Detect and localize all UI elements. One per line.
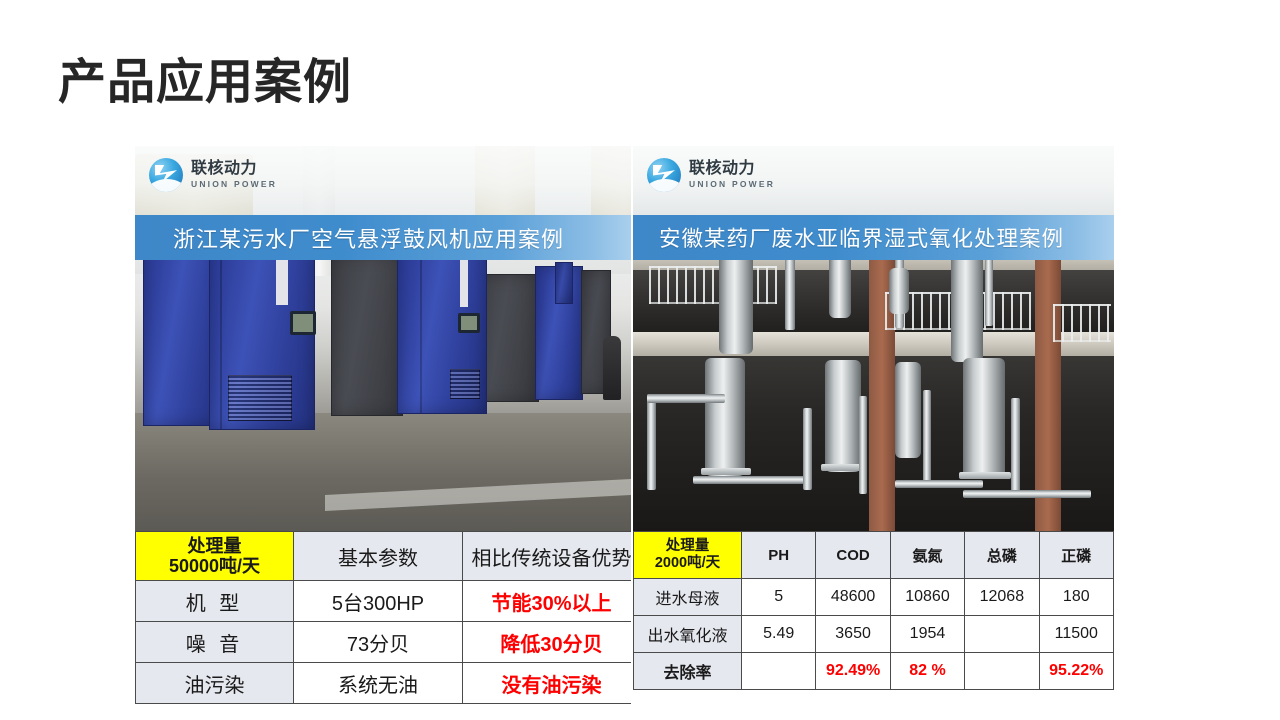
- row-advantage: 节能30%以上: [463, 581, 632, 622]
- table-row-header: 处理量 50000吨/天 基本参数 相比传统设备优势: [136, 532, 632, 581]
- cell-ph: 5: [742, 579, 816, 616]
- cell-ammonia-nitrogen: 10860: [890, 579, 964, 616]
- case-card-right: 联核动力 UNION POWER 安徽某药厂废水亚临界湿式氧化处理案例 处理量 …: [633, 146, 1114, 690]
- capacity-label: 处理量: [635, 538, 740, 555]
- row-param: 系统无油: [294, 663, 463, 704]
- case-caption-right: 安徽某药厂废水亚临界湿式氧化处理案例: [633, 222, 1064, 253]
- row-label: 去除率: [634, 653, 742, 690]
- row-label: 噪 音: [136, 622, 294, 663]
- column-header-cod: COD: [816, 532, 890, 579]
- row-advantage: 降低30分贝: [463, 622, 632, 663]
- cell-ph: 5.49: [742, 616, 816, 653]
- row-label: 进水母液: [634, 579, 742, 616]
- capacity-value: 2000吨/天: [635, 555, 740, 572]
- cell-cod: 3650: [816, 616, 890, 653]
- union-power-logo-icon: [647, 158, 681, 192]
- row-label: 机 型: [136, 581, 294, 622]
- cell-orthophosphate: 11500: [1039, 616, 1113, 653]
- case-caption-left: 浙江某污水厂空气悬浮鼓风机应用案例: [135, 222, 564, 254]
- processing-capacity-header: 处理量 2000吨/天: [634, 532, 742, 579]
- cell-orthophosphate: 180: [1039, 579, 1113, 616]
- cell-ammonia-nitrogen: 82 %: [890, 653, 964, 690]
- row-label: 油污染: [136, 663, 294, 704]
- brand-logo-left: 联核动力 UNION POWER: [149, 158, 277, 192]
- table-row: 出水氧化液 5.49 3650 1954 11500: [634, 616, 1114, 653]
- cell-orthophosphate: 95.22%: [1039, 653, 1113, 690]
- case-caption-band-left: 浙江某污水厂空气悬浮鼓风机应用案例: [135, 215, 631, 260]
- photo-header-right: 联核动力 UNION POWER: [633, 146, 1114, 215]
- cell-total-phosphorus: 12068: [965, 579, 1039, 616]
- page-title: 产品应用案例: [58, 55, 352, 110]
- cell-cod: 92.49%: [816, 653, 890, 690]
- capacity-value: 50000吨/天: [137, 556, 292, 576]
- union-power-logo-icon: [149, 158, 183, 192]
- capacity-label: 处理量: [137, 536, 292, 556]
- table-row: 油污染 系统无油 没有油污染: [136, 663, 632, 704]
- brand-name-cn: 联核动力: [191, 161, 277, 177]
- brand-name-en: UNION POWER: [689, 180, 775, 189]
- case-photo-left: 联核动力 UNION POWER 浙江某污水厂空气悬浮鼓风机应用案例: [135, 146, 631, 531]
- column-header-ph: PH: [742, 532, 816, 579]
- table-row-header: 处理量 2000吨/天 PH COD 氨氮 总磷 正磷: [634, 532, 1114, 579]
- row-param: 5台300HP: [294, 581, 463, 622]
- table-row: 进水母液 5 48600 10860 12068 180: [634, 579, 1114, 616]
- brand-logo-right: 联核动力 UNION POWER: [647, 158, 775, 192]
- photo-header-left: 联核动力 UNION POWER: [135, 146, 631, 215]
- cell-total-phosphorus: [965, 616, 1039, 653]
- case-photo-right: 联核动力 UNION POWER 安徽某药厂废水亚临界湿式氧化处理案例: [633, 146, 1114, 531]
- column-header-orthophosphate: 正磷: [1039, 532, 1113, 579]
- table-row: 噪 音 73分贝 降低30分贝: [136, 622, 632, 663]
- table-row: 去除率 92.49% 82 % 95.22%: [634, 653, 1114, 690]
- processing-capacity-header: 处理量 50000吨/天: [136, 532, 294, 581]
- row-label: 出水氧化液: [634, 616, 742, 653]
- brand-name-cn: 联核动力: [689, 161, 775, 177]
- brand-name-en: UNION POWER: [191, 180, 277, 189]
- cell-ammonia-nitrogen: 1954: [890, 616, 964, 653]
- spec-table-right: 处理量 2000吨/天 PH COD 氨氮 总磷 正磷 进水母液 5 48600…: [633, 531, 1114, 690]
- cell-total-phosphorus: [965, 653, 1039, 690]
- table-row: 机 型 5台300HP 节能30%以上: [136, 581, 632, 622]
- cell-ph: [742, 653, 816, 690]
- case-caption-band-right: 安徽某药厂废水亚临界湿式氧化处理案例: [633, 215, 1114, 260]
- column-header-total-phosphorus: 总磷: [965, 532, 1039, 579]
- case-card-left: 联核动力 UNION POWER 浙江某污水厂空气悬浮鼓风机应用案例 处理量 5…: [135, 146, 631, 704]
- column-header-advantage: 相比传统设备优势: [463, 532, 632, 581]
- spec-table-left: 处理量 50000吨/天 基本参数 相比传统设备优势 机 型 5台300HP 节…: [135, 531, 631, 704]
- column-header-params: 基本参数: [294, 532, 463, 581]
- row-param: 73分贝: [294, 622, 463, 663]
- row-advantage: 没有油污染: [463, 663, 632, 704]
- column-header-ammonia-nitrogen: 氨氮: [890, 532, 964, 579]
- slide-canvas: 产品应用案例: [0, 0, 1280, 720]
- cell-cod: 48600: [816, 579, 890, 616]
